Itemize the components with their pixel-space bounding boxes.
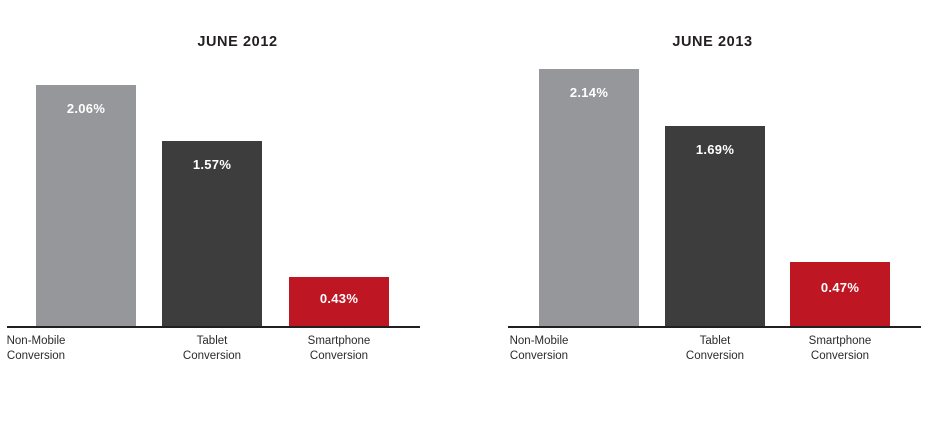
- bar-value-label: 2.06%: [36, 101, 136, 116]
- bar-smartphone-conversion-2012[interactable]: 0.43%: [289, 277, 389, 326]
- x-tick-label-line2: Conversion: [153, 349, 271, 364]
- x-tick-label-tablet-2012: Tablet Conversion: [153, 334, 271, 364]
- x-tick-label-line2: Conversion: [280, 349, 398, 364]
- chart-panel-june-2012: JUNE 2012 2.06% Non-Mobile Conversion 1.…: [0, 0, 475, 424]
- x-tick-label-smartphone-2013: Smartphone Conversion: [781, 334, 899, 364]
- x-tick-label-line1: Smartphone: [809, 335, 872, 347]
- x-tick-label-line2: Conversion: [480, 349, 598, 364]
- bar-value-label: 2.14%: [539, 85, 639, 100]
- x-tick-label-line1: Tablet: [197, 335, 228, 347]
- x-tick-label-line1: Tablet: [700, 335, 731, 347]
- x-axis-baseline-right: [508, 326, 921, 328]
- x-tick-label-line1: Non-Mobile: [7, 335, 66, 347]
- plot-area-left: 2.06% Non-Mobile Conversion 1.57% Tablet…: [0, 0, 475, 424]
- bar-value-label: 1.57%: [162, 157, 262, 172]
- bar-non-mobile-conversion-2013[interactable]: 2.14%: [539, 69, 639, 326]
- plot-area-right: 2.14% Non-Mobile Conversion 1.69% Tablet…: [475, 0, 950, 424]
- x-tick-label-tablet-2013: Tablet Conversion: [656, 334, 774, 364]
- x-tick-label-line2: Conversion: [0, 349, 95, 364]
- x-tick-label-line2: Conversion: [781, 349, 899, 364]
- x-tick-label-smartphone-2012: Smartphone Conversion: [280, 334, 398, 364]
- bar-tablet-conversion-2012[interactable]: 1.57%: [162, 141, 262, 326]
- dual-bar-chart-figure: JUNE 2012 2.06% Non-Mobile Conversion 1.…: [0, 0, 950, 424]
- bar-value-label: 1.69%: [665, 142, 765, 157]
- bar-smartphone-conversion-2013[interactable]: 0.47%: [790, 262, 890, 326]
- x-tick-label-line2: Conversion: [656, 349, 774, 364]
- x-tick-label-non-mobile-2012: Non-Mobile Conversion: [0, 334, 95, 364]
- x-tick-label-non-mobile-2013: Non-Mobile Conversion: [480, 334, 598, 364]
- x-tick-label-line1: Non-Mobile: [510, 335, 569, 347]
- bar-value-label: 0.43%: [289, 291, 389, 306]
- bar-non-mobile-conversion-2012[interactable]: 2.06%: [36, 85, 136, 326]
- bar-value-label: 0.47%: [790, 280, 890, 295]
- bar-tablet-conversion-2013[interactable]: 1.69%: [665, 126, 765, 326]
- chart-panel-june-2013: JUNE 2013 2.14% Non-Mobile Conversion 1.…: [475, 0, 950, 424]
- x-axis-baseline-left: [7, 326, 420, 328]
- x-tick-label-line1: Smartphone: [308, 335, 371, 347]
